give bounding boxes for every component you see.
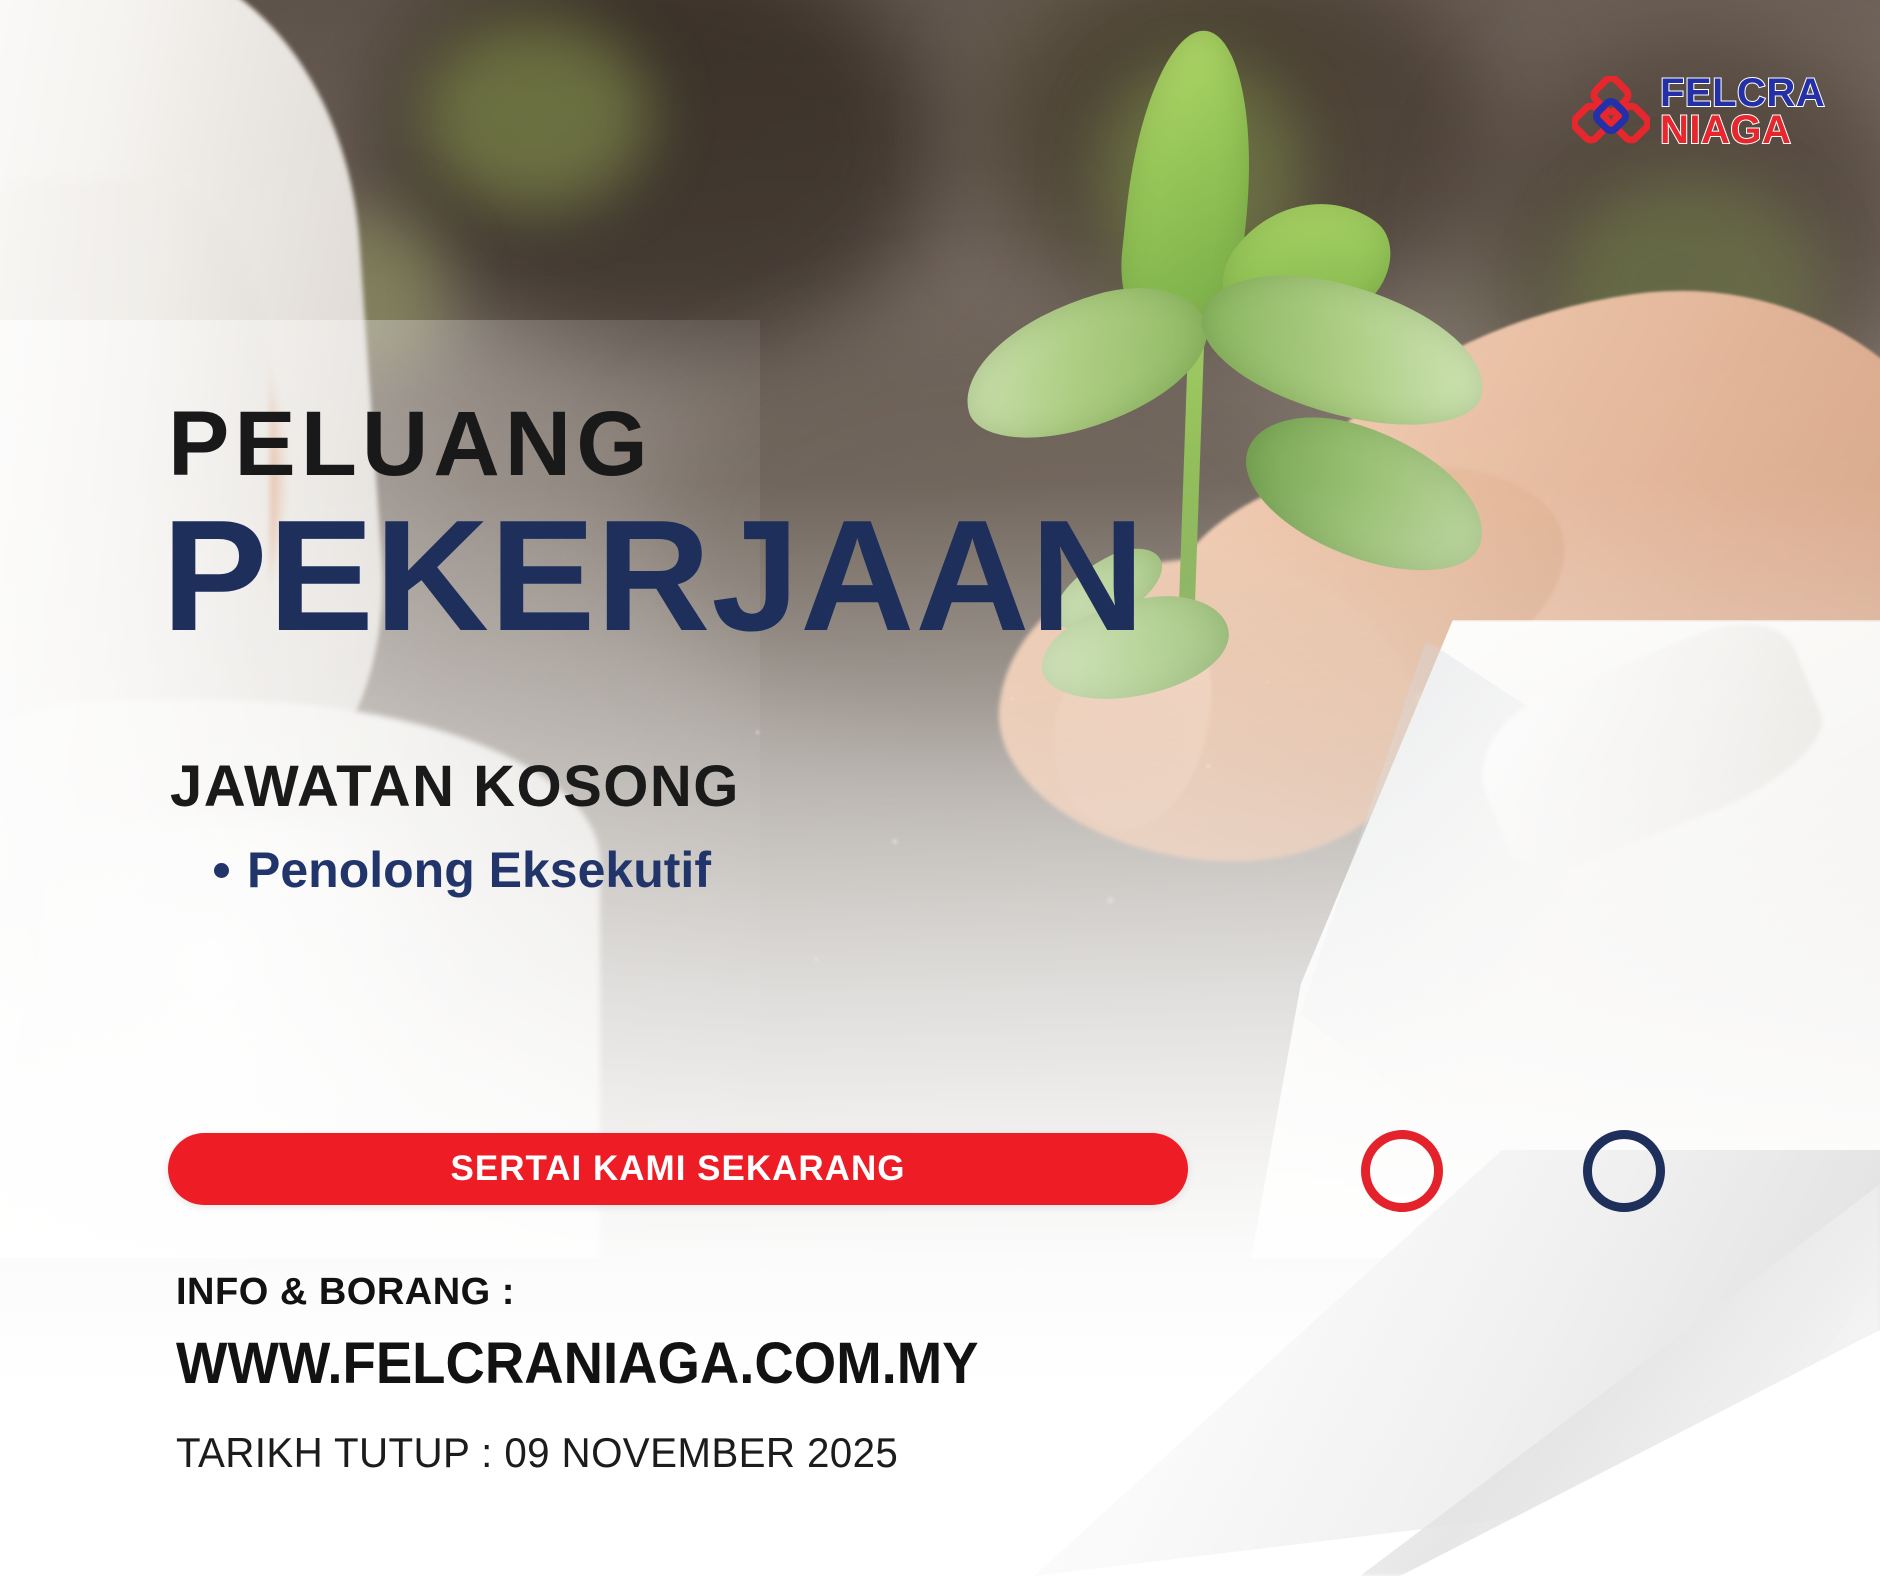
- bullet-icon: [214, 863, 229, 878]
- decor-circle-navy-icon: [1583, 1130, 1665, 1212]
- logo-text-felcra: FELCRA: [1660, 75, 1825, 112]
- logo-wordmark: FELCRA NIAGA: [1660, 75, 1825, 149]
- vacancy-position-list: Penolong Eksekutif: [214, 842, 740, 900]
- decor-circle-red-icon: [1361, 1130, 1443, 1212]
- logo-text-niaga: NIAGA: [1660, 112, 1825, 149]
- join-us-button[interactable]: SERTAI KAMI SEKARANG: [168, 1133, 1188, 1205]
- headline-line-peluang: PELUANG: [168, 398, 1146, 490]
- join-us-button-label: SERTAI KAMI SEKARANG: [451, 1149, 906, 1189]
- vacancy-section-title: JAWATAN KOSONG: [170, 758, 740, 816]
- footer-contact-block: INFO & BORANG : WWW.FELCRANIAGA.COM.MY: [176, 1272, 1030, 1396]
- footer-info-label: INFO & BORANG :: [176, 1272, 1030, 1314]
- footer-website-url[interactable]: WWW.FELCRANIAGA.COM.MY: [176, 1332, 979, 1396]
- footer-closing-date: TARIKH TUTUP : 09 NOVEMBER 2025: [176, 1430, 898, 1476]
- vacancy-block: JAWATAN KOSONG Penolong Eksekutif: [170, 758, 740, 900]
- felcra-niaga-logo: FELCRA NIAGA: [1572, 70, 1824, 154]
- headline-block: PELUANG PEKERJAAN: [168, 398, 1146, 657]
- job-vacancy-poster: FELCRA NIAGA PELUANG PEKERJAAN JAWATAN K…: [0, 0, 1880, 1576]
- position-label: Penolong Eksekutif: [247, 842, 711, 900]
- headline-line-pekerjaan: PEKERJAAN: [162, 496, 1146, 657]
- felcra-diamonds-icon: [1572, 76, 1650, 148]
- list-item: Penolong Eksekutif: [214, 842, 740, 900]
